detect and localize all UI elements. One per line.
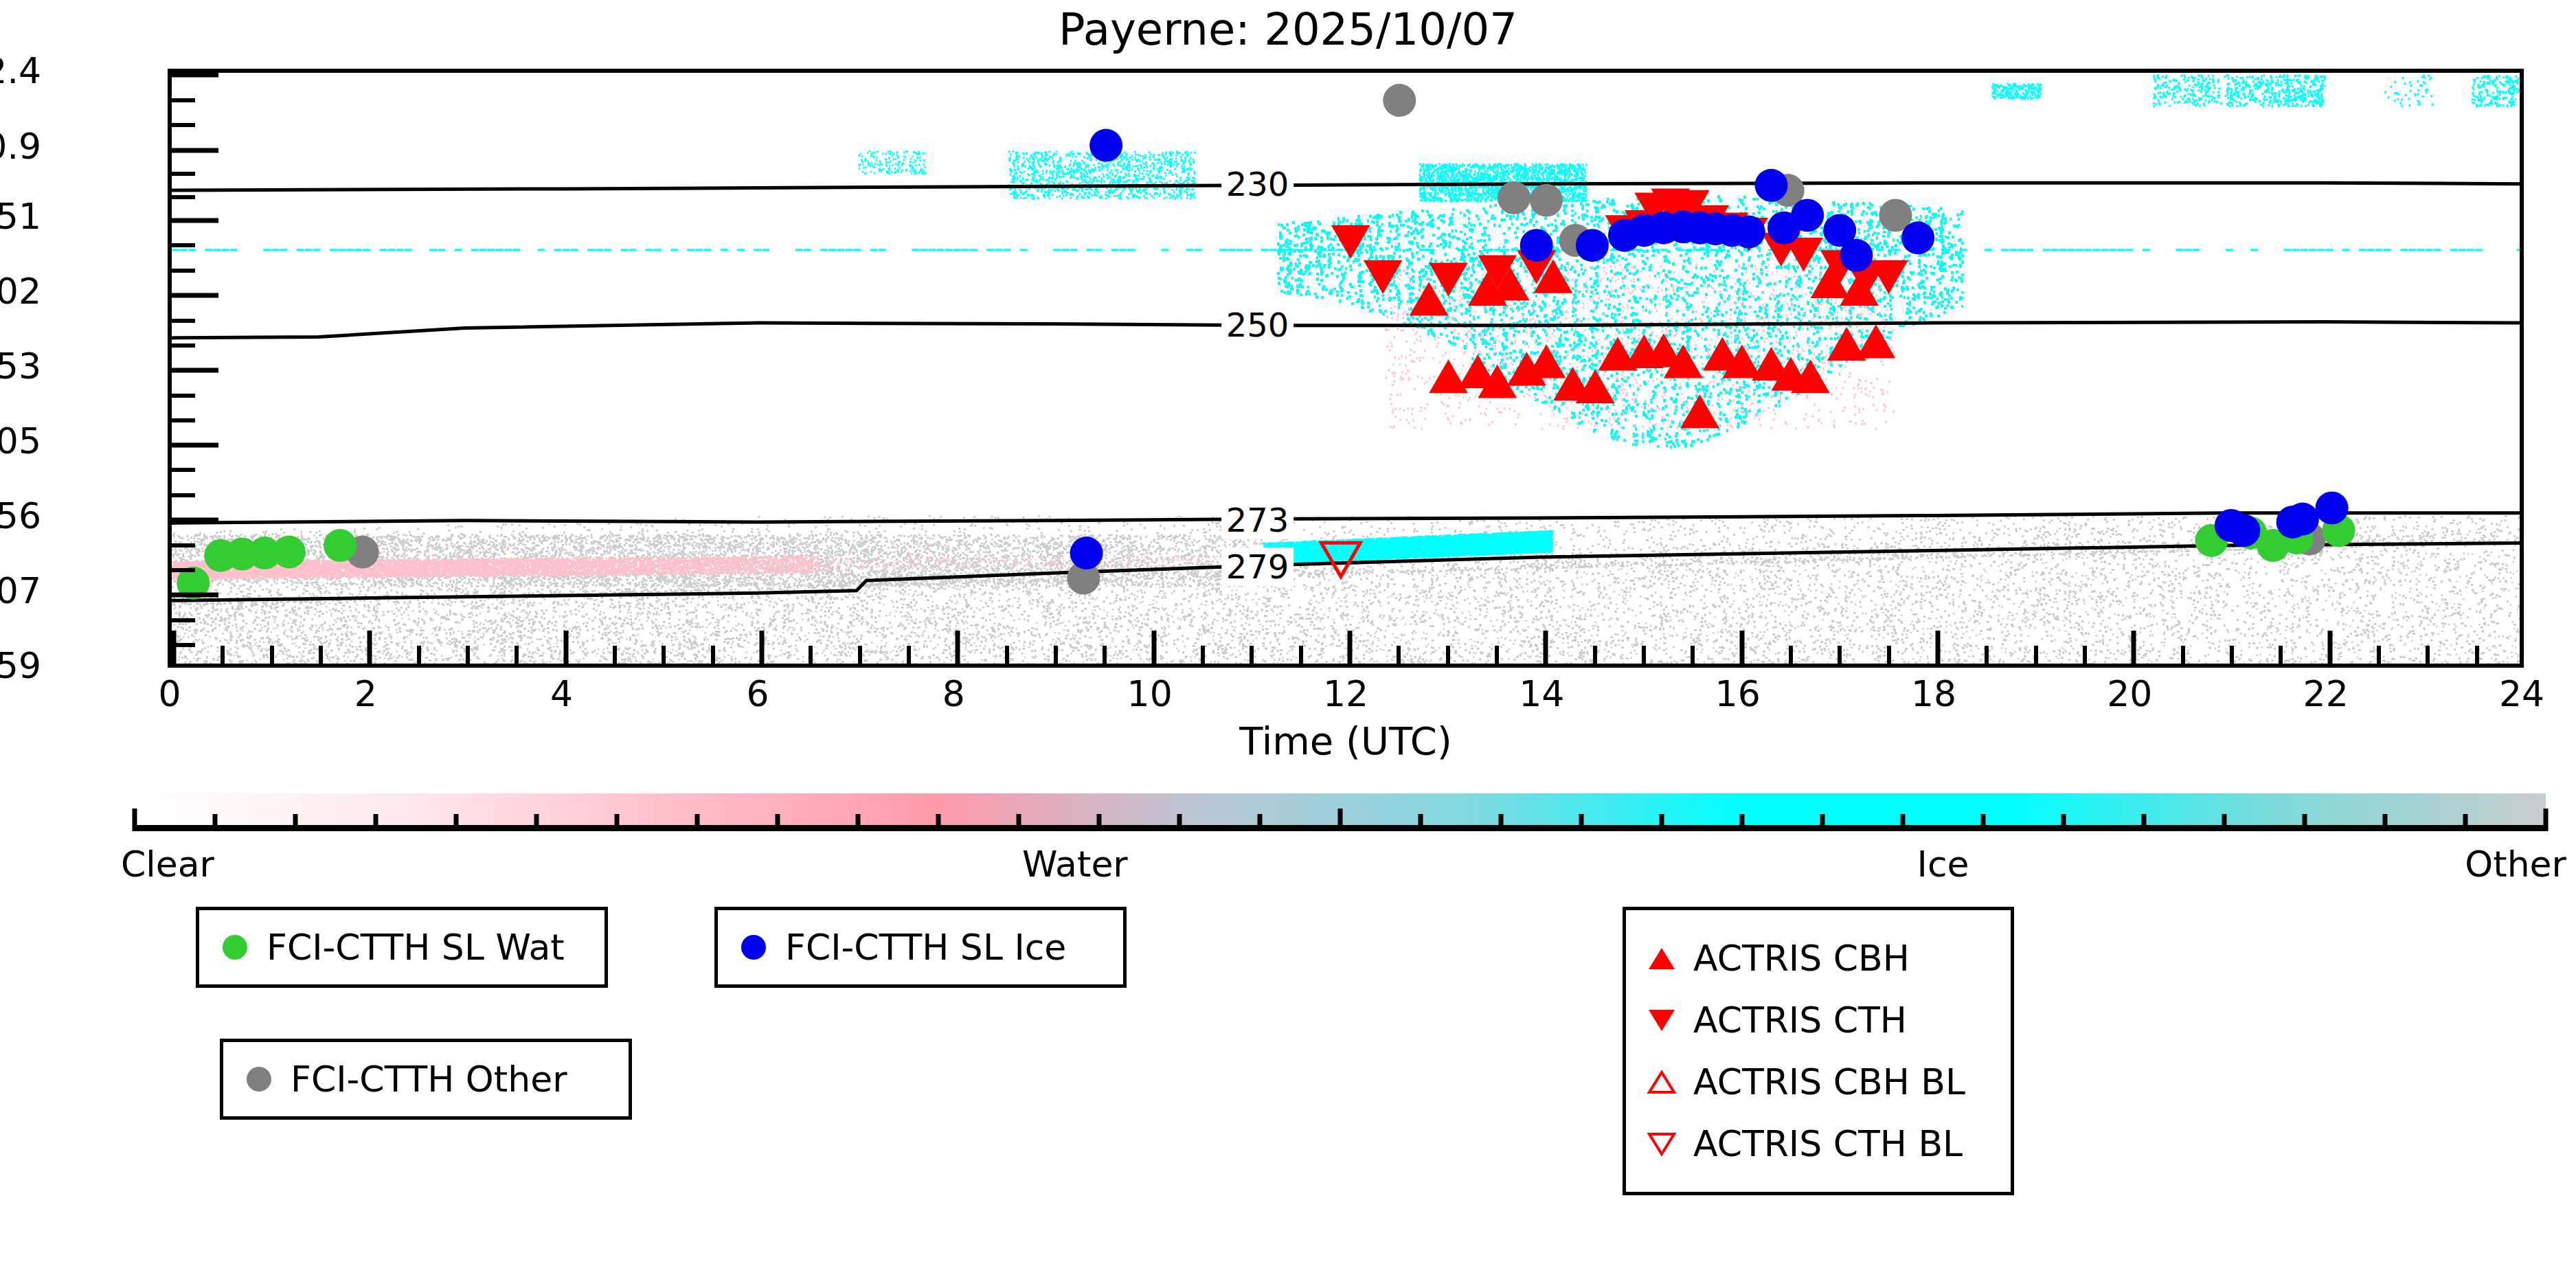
x-tick-label: 24	[2499, 673, 2544, 714]
x-tick-minor	[2034, 646, 2038, 664]
x-tick-major	[2132, 631, 2136, 664]
x-tick-label: 12	[1323, 673, 1368, 714]
x-tick-minor	[1054, 646, 1058, 664]
x-tick-minor	[1838, 646, 1842, 664]
y-tick-major	[172, 668, 218, 668]
x-tick-major	[368, 631, 372, 664]
x-tick-label: 8	[942, 673, 965, 714]
legend-item: ACTRIS CTH BL	[1644, 1113, 1993, 1175]
colorbar-tick	[1739, 814, 1744, 831]
x-tick-minor	[1397, 646, 1401, 664]
x-tick-label: 18	[1911, 673, 1956, 714]
x-tick-minor	[907, 646, 911, 664]
data-point-circle	[2316, 492, 2349, 525]
legend-item: FCI-CTTH Other	[241, 1052, 611, 1107]
x-tick-minor	[2377, 646, 2381, 664]
colorbar-tick	[2222, 814, 2227, 831]
x-tick-minor	[270, 646, 274, 664]
colorbar-tick	[1820, 814, 1825, 831]
y-tick-major	[172, 148, 218, 152]
legend-item: ACTRIS CBH	[1644, 927, 1993, 989]
x-tick-minor	[662, 646, 666, 664]
y-tick-label: 9.51	[0, 196, 41, 237]
y-tick-label: 8.02	[0, 271, 41, 312]
colorbar-tick	[1097, 814, 1102, 831]
data-point-circle	[273, 536, 306, 569]
data-point-circle	[1755, 169, 1788, 202]
y-tick-minor	[172, 172, 195, 176]
plot-canvas	[172, 73, 2520, 664]
y-tick-label: 5.05	[0, 420, 41, 462]
x-tick-minor	[417, 646, 421, 664]
isotherm-line	[172, 513, 2520, 523]
legend-actris[interactable]: ACTRIS CBH ACTRIS CTH ACTRIS CBH BL ACTR…	[1623, 907, 2014, 1195]
x-tick-minor	[1201, 646, 1205, 664]
x-tick-major	[172, 631, 177, 664]
y-tick-label: 6.53	[0, 346, 41, 387]
colorbar-tick	[2303, 814, 2307, 831]
x-tick-minor	[2426, 646, 2430, 664]
triangle-up-filled-icon	[1644, 945, 1680, 972]
x-tick-label: 20	[2107, 673, 2152, 714]
x-tick-major	[1151, 631, 1156, 664]
x-tick-major	[563, 631, 568, 664]
y-tick-label: 12.4	[0, 50, 41, 91]
y-tick-minor	[172, 319, 195, 323]
x-tick-minor	[1985, 646, 1989, 664]
y-tick-minor	[172, 394, 195, 398]
x-tick-major	[760, 631, 765, 664]
y-tick-minor	[172, 543, 195, 547]
colorbar-tick	[936, 814, 940, 831]
x-tick-label: 22	[2303, 673, 2349, 714]
legend-label: FCI-CTTH Other	[291, 1059, 567, 1100]
y-tick-label: 3.56	[0, 495, 41, 536]
isotherm-line	[172, 183, 2520, 190]
data-point-circle	[2286, 503, 2319, 536]
y-tick-minor	[172, 568, 195, 572]
colorbar-tick	[454, 814, 459, 831]
y-tick-minor	[172, 343, 195, 348]
x-tick-minor	[1446, 646, 1450, 664]
contour-label-250: 250	[1221, 306, 1294, 344]
triangle-down-filled-icon	[1644, 1006, 1680, 1034]
data-point-triangle-up	[1680, 394, 1719, 428]
x-tick-minor	[2475, 646, 2479, 664]
x-tick-minor	[319, 646, 323, 664]
y-tick-major	[172, 442, 218, 447]
y-tick-minor	[172, 618, 195, 622]
x-tick-label: 6	[746, 673, 769, 714]
y-tick-major	[172, 368, 218, 373]
y-tick-label: 0.59	[0, 645, 41, 686]
data-point-circle	[1901, 221, 1934, 254]
x-tick-minor	[711, 646, 715, 664]
x-tick-label: 16	[1715, 673, 1761, 714]
colorbar-tick	[1258, 814, 1263, 831]
contour-label-273: 273	[1221, 501, 1294, 539]
triangle-up-open-icon	[1644, 1068, 1680, 1096]
y-tick-major	[172, 73, 218, 78]
legend-label: FCI-CTTH SL Ice	[785, 927, 1066, 968]
x-tick-minor	[1103, 646, 1107, 664]
colorbar-tick	[2544, 809, 2549, 831]
colorbar-tick	[1017, 814, 1021, 831]
green-circle-icon	[217, 935, 253, 960]
blue-circle-icon	[736, 935, 771, 960]
y-tick-label: 2.07	[0, 570, 41, 611]
colorbar-label: Water	[1022, 844, 1128, 885]
colorbar-tick	[1499, 814, 1504, 831]
legend-label: ACTRIS CTH	[1693, 999, 1907, 1041]
y-tick-minor	[172, 269, 195, 273]
x-axis-title: Time (UTC)	[1239, 719, 1452, 763]
data-point-triangle-down	[1331, 225, 1370, 259]
x-tick-label: 0	[158, 673, 181, 714]
data-point-triangle-down	[1364, 260, 1403, 294]
x-tick-major	[2524, 631, 2524, 664]
colorbar-tick	[2061, 814, 2066, 831]
data-point-circle	[1791, 199, 1824, 232]
colorbar-tick	[1419, 814, 1423, 831]
x-tick-minor	[858, 646, 862, 664]
legend-label: ACTRIS CBH	[1693, 938, 1910, 979]
colorbar-tick	[293, 814, 298, 831]
colorbar-label: Ice	[1917, 844, 1969, 885]
isotherm-line	[172, 322, 2520, 338]
contour-label-230: 230	[1221, 165, 1294, 203]
colorbar-tick	[374, 814, 379, 831]
x-tick-minor	[809, 646, 813, 664]
page-title: Payerne: 2025/10/07	[0, 4, 2576, 55]
x-tick-minor	[613, 646, 617, 664]
y-tick-minor	[172, 468, 195, 472]
x-tick-label: 4	[550, 673, 573, 714]
y-tick-minor	[172, 243, 195, 247]
x-tick-major	[2327, 631, 2332, 664]
data-point-circle	[1530, 184, 1563, 217]
y-tick-major	[172, 518, 218, 523]
x-tick-minor	[2230, 646, 2234, 664]
x-tick-minor	[466, 646, 470, 664]
colorbar-tick	[2383, 814, 2388, 831]
x-tick-minor	[1299, 646, 1303, 664]
x-tick-major	[1348, 631, 1353, 664]
y-tick-minor	[172, 123, 195, 127]
colorbar-label: Other	[2465, 844, 2566, 885]
x-tick-minor	[2181, 646, 2185, 664]
legend-item: FCI-CTTH SL Ice	[736, 920, 1105, 975]
y-tick-major	[172, 293, 218, 298]
legend-fci-other[interactable]: FCI-CTTH Other	[220, 1039, 632, 1120]
colorbar-label: Clear	[121, 844, 214, 885]
x-tick-major	[1936, 631, 1941, 664]
colorbar-tick	[1579, 814, 1584, 831]
grey-circle-icon	[241, 1067, 277, 1092]
colorbar-tick	[776, 814, 780, 831]
triangle-down-open-icon	[1644, 1130, 1680, 1157]
x-tick-minor	[1691, 646, 1695, 664]
x-tick-major	[956, 631, 960, 664]
x-tick-minor	[1005, 646, 1009, 664]
data-point-triangle-down	[1429, 262, 1468, 296]
x-tick-minor	[1789, 646, 1793, 664]
legend-item: ACTRIS CTH	[1644, 989, 1993, 1051]
colorbar-tick	[695, 814, 700, 831]
legend-fci-sl-wat[interactable]: FCI-CTTH SL Wat	[196, 907, 608, 988]
x-tick-minor	[221, 646, 225, 664]
data-point-circle	[1089, 129, 1122, 162]
colorbar-tick	[1177, 814, 1182, 831]
data-point-circle	[1383, 84, 1416, 117]
y-tick-major	[172, 218, 218, 223]
y-tick-minor	[172, 98, 195, 102]
colorbar-tick	[1981, 814, 1986, 831]
contour-label-279: 279	[1221, 547, 1294, 586]
y-tick-major	[172, 593, 218, 598]
x-tick-minor	[515, 646, 519, 664]
legend-label: ACTRIS CBH BL	[1693, 1061, 1965, 1103]
colorbar-tick	[534, 814, 539, 831]
data-point-circle	[2227, 514, 2260, 547]
x-tick-major	[1544, 631, 1548, 664]
x-tick-major	[1739, 631, 1744, 664]
colorbar	[135, 793, 2546, 836]
data-point-circle	[1732, 216, 1765, 249]
x-tick-label: 10	[1127, 673, 1173, 714]
x-tick-label: 14	[1519, 673, 1564, 714]
colorbar-tick	[213, 814, 218, 831]
colorbar-tick	[615, 814, 620, 831]
y-tick-minor	[172, 195, 195, 199]
x-tick-minor	[1593, 646, 1597, 664]
colorbar-tick	[2463, 814, 2468, 831]
y-tick-minor	[172, 493, 195, 497]
legend-fci-sl-ice[interactable]: FCI-CTTH SL Ice	[714, 907, 1127, 988]
legend-label: FCI-CTTH SL Wat	[267, 927, 565, 968]
y-tick-minor	[172, 418, 195, 422]
x-tick-minor	[1642, 646, 1646, 664]
colorbar-tick	[2142, 814, 2147, 831]
colorbar-tick	[1338, 809, 1343, 831]
legend-item: FCI-CTTH SL Wat	[217, 920, 587, 975]
colorbar-tick	[133, 809, 137, 831]
x-tick-minor	[1887, 646, 1891, 664]
colorbar-tick	[1660, 814, 1664, 831]
y-tick-label: 10.9	[0, 126, 41, 167]
plot-area	[168, 69, 2524, 668]
x-tick-minor	[1495, 646, 1499, 664]
data-point-circle	[1498, 181, 1530, 214]
data-point-circle	[1070, 536, 1103, 569]
data-point-circle	[1840, 239, 1873, 272]
x-tick-label: 2	[354, 673, 377, 714]
x-tick-minor	[2279, 646, 2283, 664]
data-point-circle	[1576, 229, 1609, 262]
legend-item: ACTRIS CBH BL	[1644, 1051, 1993, 1113]
x-tick-minor	[1250, 646, 1254, 664]
data-point-circle	[1520, 229, 1553, 262]
colorbar-tick	[856, 814, 861, 831]
legend-label: ACTRIS CTH BL	[1693, 1123, 1963, 1164]
x-tick-minor	[2083, 646, 2087, 664]
colorbar-tick	[1901, 814, 1906, 831]
data-point-circle	[324, 529, 357, 562]
